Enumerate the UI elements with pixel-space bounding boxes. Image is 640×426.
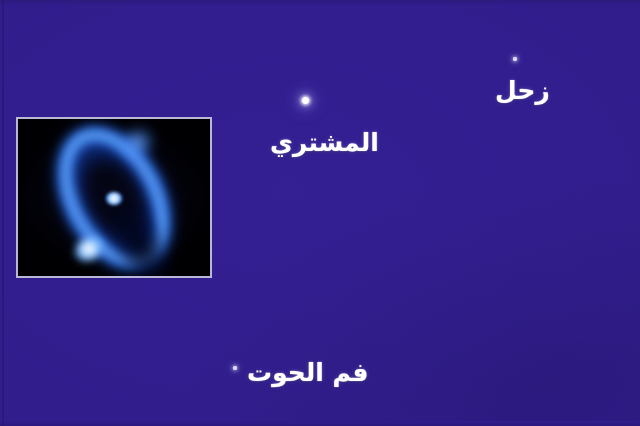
label-saturn: زحل	[495, 76, 550, 105]
bottom-edge-band	[0, 421, 640, 426]
star-point-fomalhaut	[233, 366, 237, 370]
star-point-saturn	[513, 57, 517, 61]
label-jupiter: المشتري	[270, 128, 379, 157]
star-point-jupiter	[302, 97, 309, 104]
central-star-core	[106, 192, 122, 205]
left-edge-band	[2, 0, 4, 426]
sky-scene: زحل المشتري فم الحوت	[0, 0, 640, 426]
label-fomalhaut: فم الحوت	[247, 358, 368, 387]
debris-disk-inset-panel	[16, 117, 212, 278]
top-edge-band	[0, 0, 640, 6]
